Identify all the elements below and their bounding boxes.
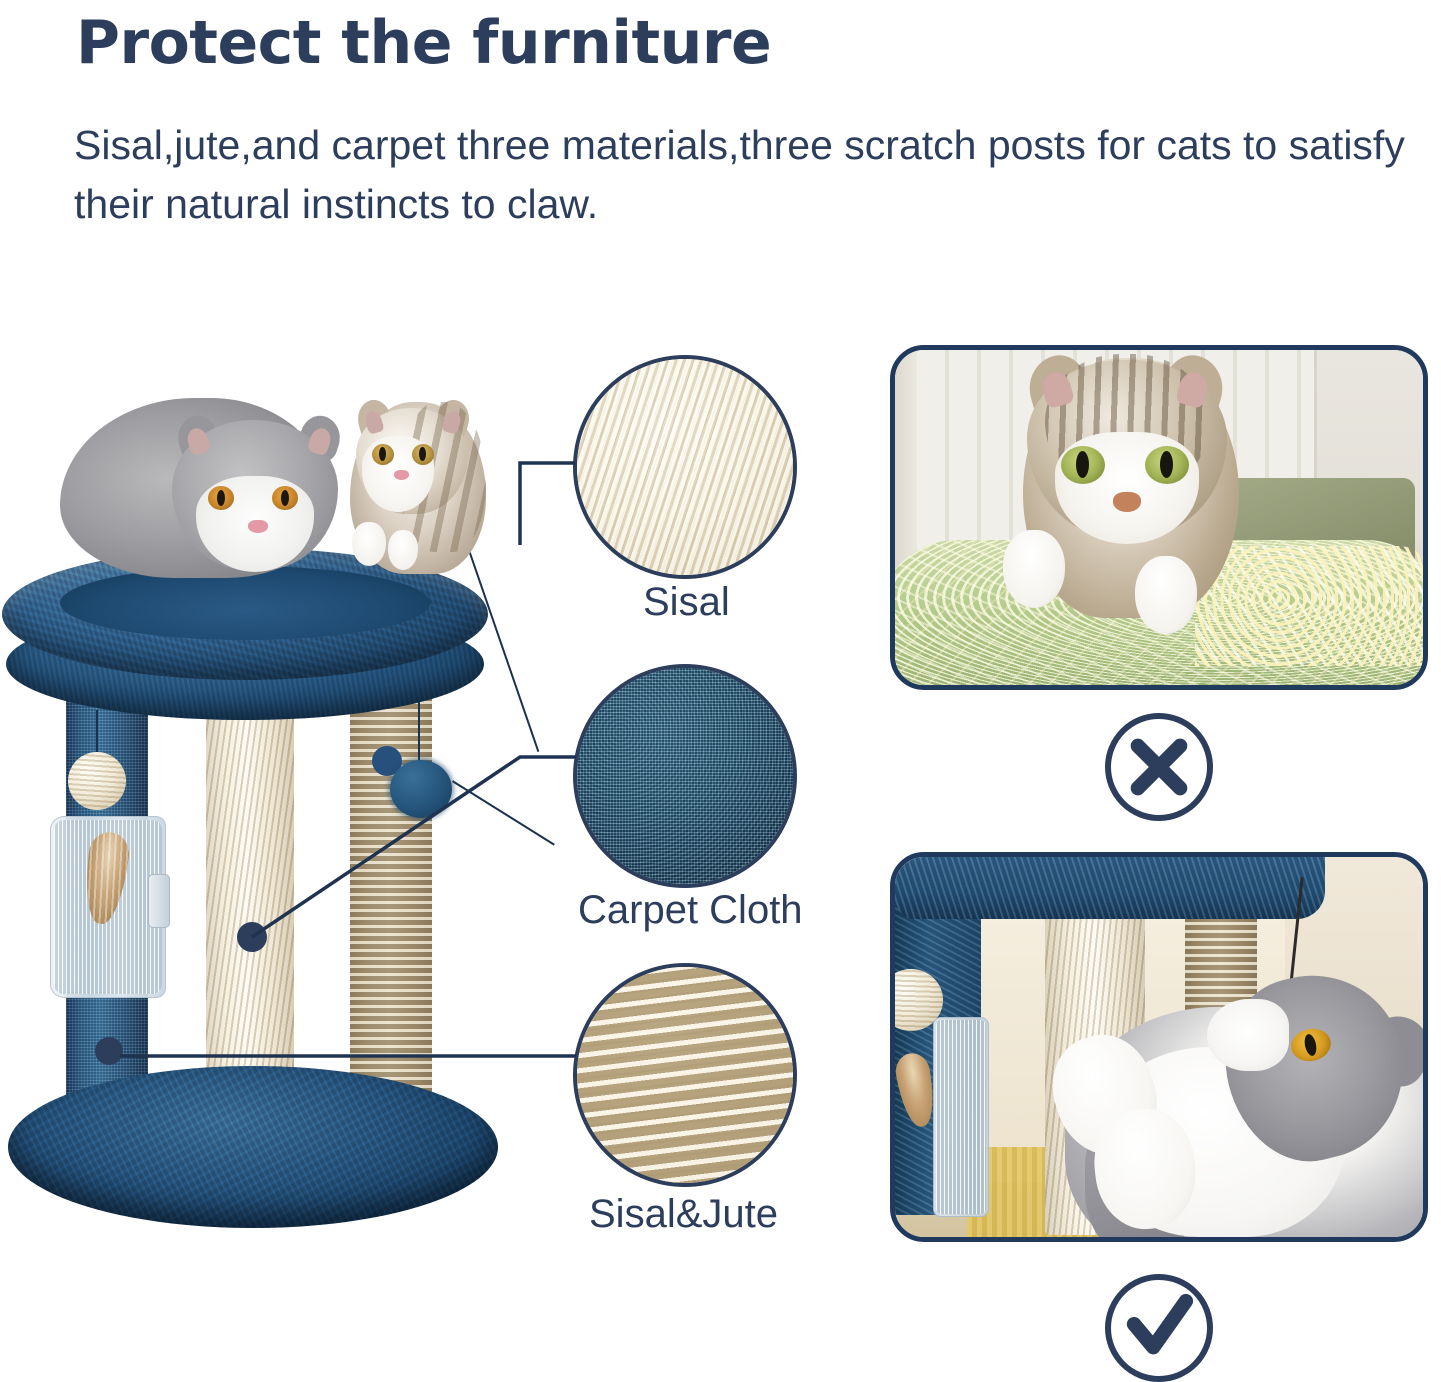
plush-perch-underside: [895, 857, 1325, 919]
cat-paw-icon: [352, 522, 386, 566]
cat-pupil: [419, 447, 426, 461]
plush-base: [8, 1066, 498, 1228]
x-mark-icon: [1105, 713, 1213, 821]
pom-pom-toy: [390, 760, 452, 818]
cat-scratching-sofa-photo: [890, 345, 1428, 690]
cat-paw-icon: [1003, 530, 1065, 608]
cat-pupil: [1160, 451, 1173, 478]
cat-nose-icon: [248, 520, 268, 533]
sisal-ball-toy: [68, 752, 126, 810]
cat-pupil: [379, 447, 386, 461]
cat-tree-product-photo: [0, 380, 530, 1230]
material-label-sisal-jute: Sisal&Jute: [589, 1192, 778, 1237]
perch-inner-well: [60, 566, 430, 640]
sisal-rope-swatch: [577, 359, 793, 575]
material-swatch-carpet: [573, 664, 797, 888]
cat-pupil: [1076, 451, 1089, 478]
page-subtitle: Sisal,jute,and carpet three materials,th…: [74, 116, 1414, 233]
material-label-sisal: Sisal: [643, 580, 730, 625]
carpet-cloth-swatch: [577, 668, 793, 884]
check-mark-icon: [1105, 1274, 1213, 1382]
cat-pupil: [281, 490, 289, 506]
shredded-fabric-damage: [1195, 546, 1428, 666]
groomer-clip: [148, 874, 170, 928]
cat-paw-icon: [1135, 556, 1197, 634]
cat-paw-icon: [388, 530, 418, 570]
cat-nose-icon: [1113, 492, 1141, 512]
material-label-carpet: Carpet Cloth: [578, 888, 803, 933]
cat-scratching-post-photo: [890, 852, 1428, 1242]
self-groomer-brush: [933, 1017, 989, 1217]
cat-nose-icon: [394, 470, 409, 480]
page-title: Protect the furniture: [76, 8, 771, 78]
material-swatch-sisal-jute: [573, 963, 797, 1187]
toy-wand-line: [452, 780, 555, 845]
infographic-header: Protect the furniture Sisal,jute,and car…: [0, 0, 1441, 260]
material-swatch-sisal: [573, 355, 797, 579]
cat-pupil: [217, 490, 225, 506]
grey-cat-muzzle: [1207, 999, 1289, 1071]
sisal-jute-swatch: [577, 967, 793, 1183]
